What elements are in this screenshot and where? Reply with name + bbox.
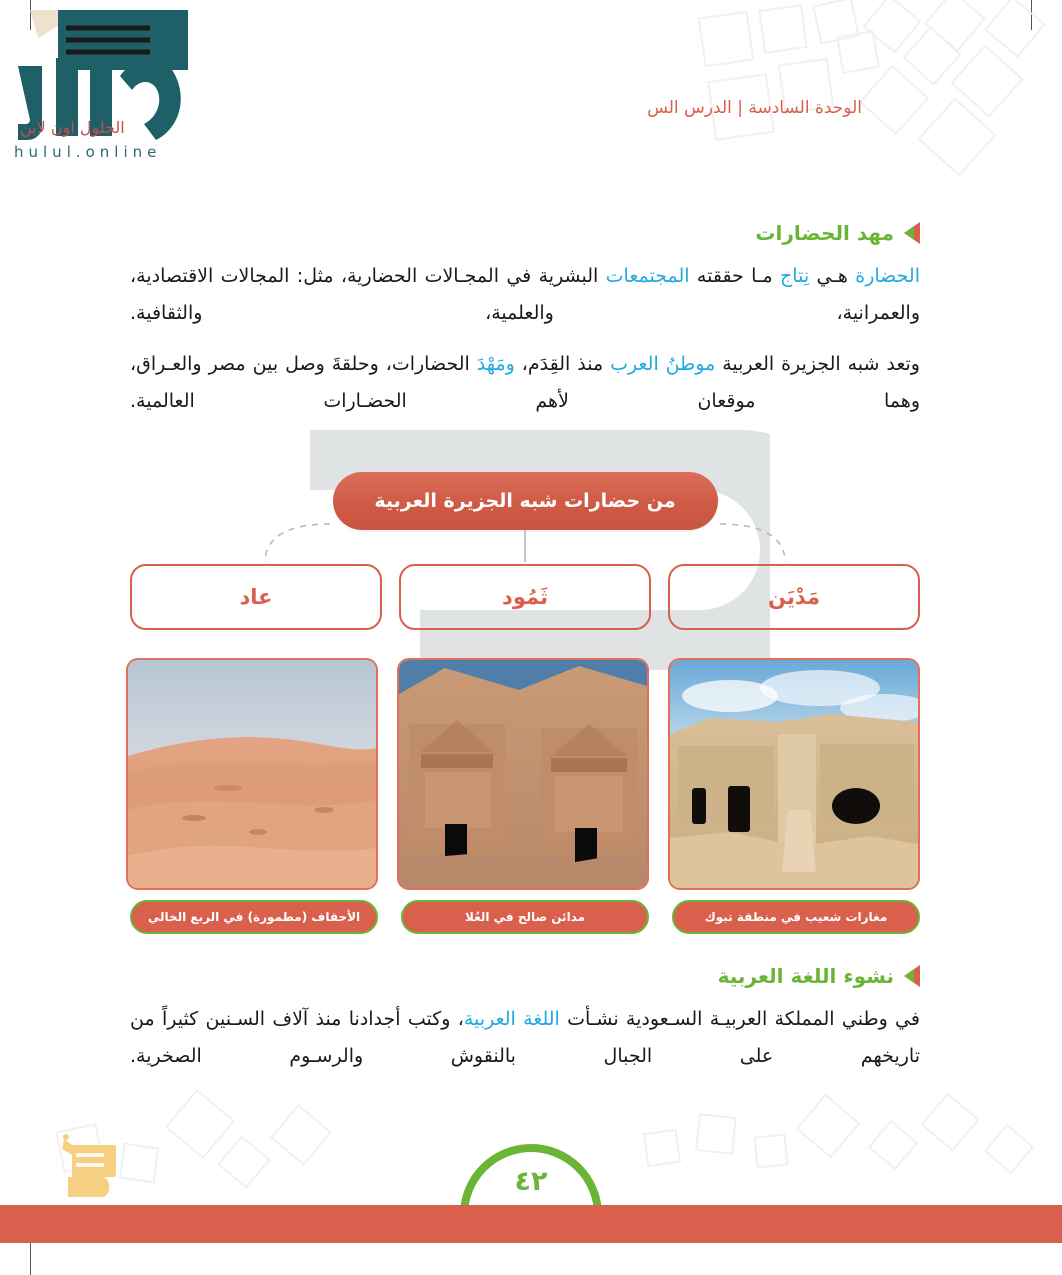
section2-heading-row: نشوء اللغة العربية	[130, 965, 920, 987]
diagram-photo-row: مغارات شعيب في منطقة تبوك	[130, 658, 920, 934]
photo-card-shuayb-caves: مغارات شعيب في منطقة تبوك	[672, 658, 920, 934]
page-number: ٤٢	[456, 1166, 606, 1197]
watermark-domain-label: hulul.online	[14, 143, 161, 161]
open-book-logo	[28, 8, 188, 98]
al-ahqaf-rub-al-khali-photo	[126, 658, 378, 890]
category-box-aad: عاد	[130, 564, 382, 630]
section1-paragraph-1: الحضارة هـي نِتاج مـا حققته المجتمعات ال…	[130, 258, 920, 332]
textbook-page: الحلول اون لاين hulul.online الوحدة السا…	[0, 0, 1062, 1275]
photo-caption-al-ahqaf: الأحقاف (مطمورة) في الربع الخالي	[130, 900, 378, 934]
photo-caption-shuayb-caves: مغارات شعيب في منطقة تبوك	[672, 900, 920, 934]
gold-book-logo-watermark	[54, 1133, 116, 1203]
footer-color-bar	[0, 1205, 1062, 1243]
crop-mark-top-right-vertical	[1031, 0, 1032, 30]
category-box-thamud: ثَمُود	[399, 564, 651, 630]
watermark-arabic-label: الحلول اون لاين	[20, 118, 125, 137]
shuayb-caves-tabuk-photo	[668, 658, 920, 890]
photo-card-al-ahqaf: الأحقاف (مطمورة) في الربع الخالي	[130, 658, 378, 934]
diagram-category-row: مَدْيَن ثَمُود عاد	[130, 564, 920, 630]
photo-card-madain-saleh: مدائن صالح في العُلا	[401, 658, 649, 934]
madain-saleh-ula-photo	[397, 658, 649, 890]
photo-caption-madain-saleh: مدائن صالح في العُلا	[401, 900, 649, 934]
category-box-madyan: مَدْيَن	[668, 564, 920, 630]
diagram-title-pill: من حضارات شبه الجزيرة العربية	[333, 472, 718, 530]
arrow-marker-icon	[902, 965, 920, 987]
section2-paragraph: في وطني المملكة العربيـة السـعودية نشـأت…	[130, 1001, 920, 1075]
section1-heading-text: مهد الحضارات	[755, 223, 894, 243]
arrow-marker-icon	[902, 222, 920, 244]
section2-heading-text: نشوء اللغة العربية	[718, 966, 894, 986]
breadcrumb: الوحدة السادسة | الدرس الس	[647, 98, 862, 118]
section1-heading-row: مهد الحضارات	[130, 222, 920, 244]
civilizations-diagram: من حضارات شبه الجزيرة العربية مَدْيَن ثَ…	[130, 462, 920, 952]
section-origin-of-arabic-language: نشوء اللغة العربية في وطني المملكة العرب…	[130, 965, 920, 1089]
section1-paragraph-2: وتعد شبه الجزيرة العربية موطنُ العرب منذ…	[130, 346, 920, 420]
section-cradle-of-civilizations: مهد الحضارات الحضارة هـي نِتاج مـا حققته…	[130, 222, 920, 434]
